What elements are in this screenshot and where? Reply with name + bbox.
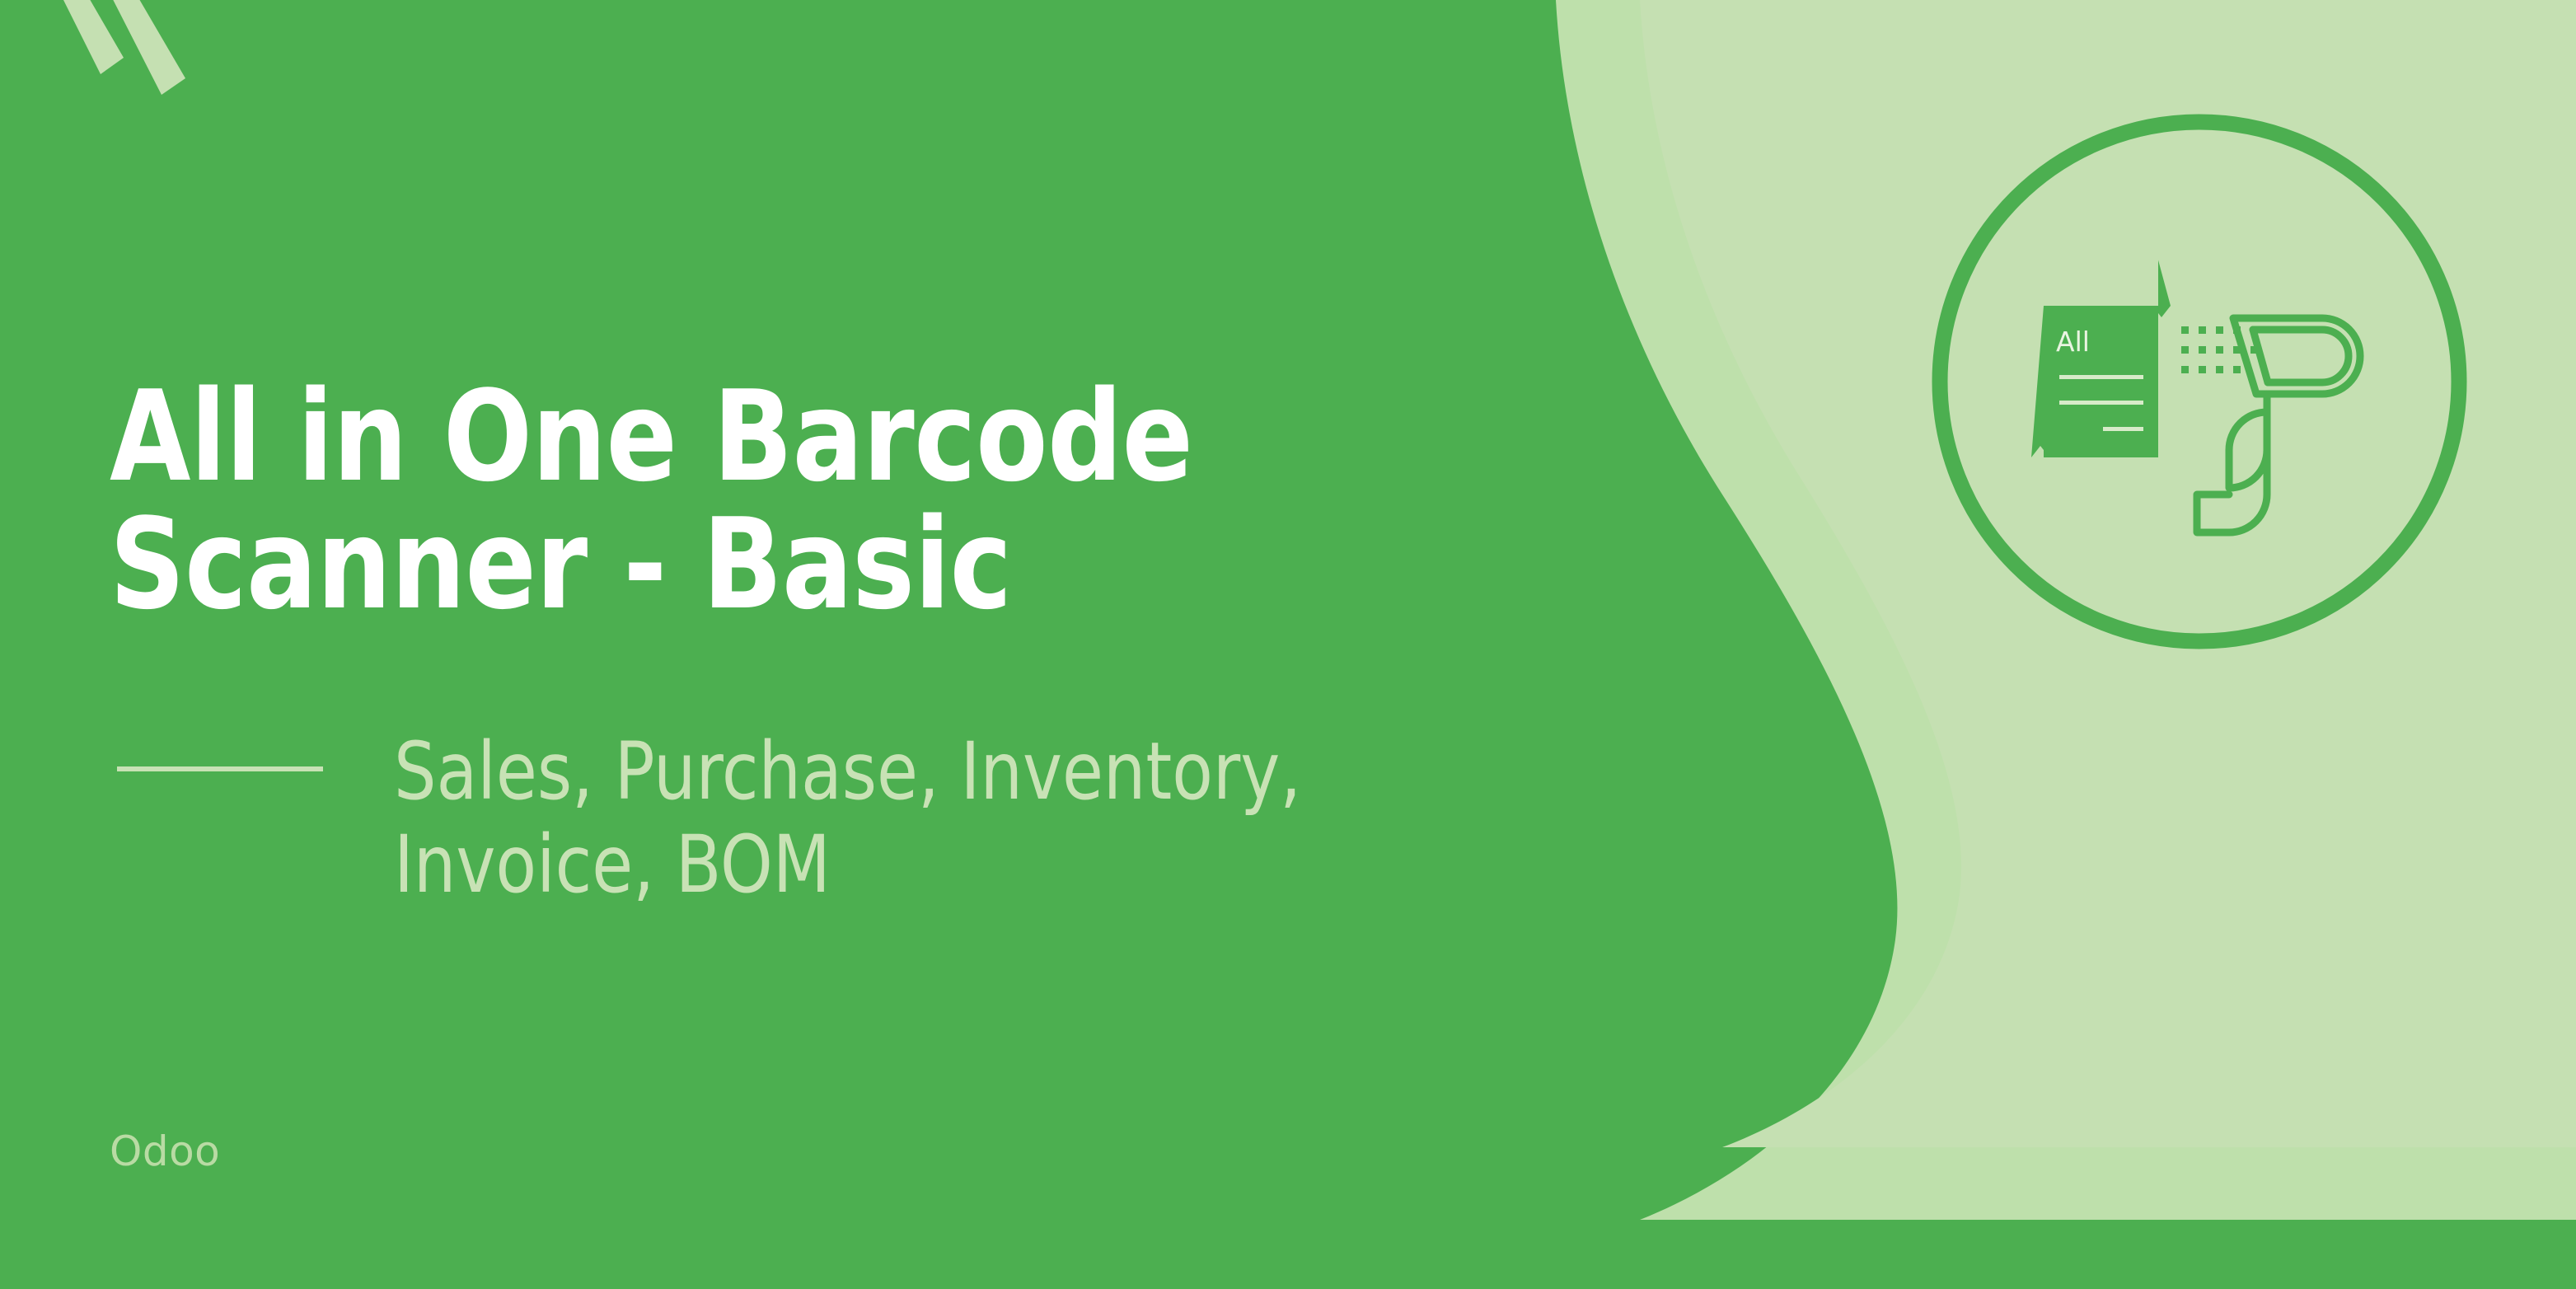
receipt-all-label: All bbox=[2056, 326, 2090, 358]
page-subtitle: Sales, Purchase, Inventory, Invoice, BOM bbox=[394, 725, 1301, 912]
emblem-circle-ring bbox=[1940, 122, 2459, 641]
product-banner: All in One Barcode Scanner - Basic Sales… bbox=[0, 0, 2576, 1289]
barcode-scanner-emblem: All bbox=[1923, 105, 2475, 658]
receipt-icon: All bbox=[2031, 260, 2171, 458]
banner-text-column: All in One Barcode Scanner - Basic Sales… bbox=[110, 0, 1758, 1289]
receipt-line-1 bbox=[2059, 375, 2143, 379]
subtitle-dash-rule bbox=[117, 766, 323, 771]
brand-label: Odoo bbox=[110, 1127, 220, 1175]
receipt-line-2 bbox=[2059, 401, 2143, 405]
receipt-line-3 bbox=[2103, 427, 2143, 431]
page-title: All in One Barcode Scanner - Basic bbox=[110, 373, 1412, 628]
